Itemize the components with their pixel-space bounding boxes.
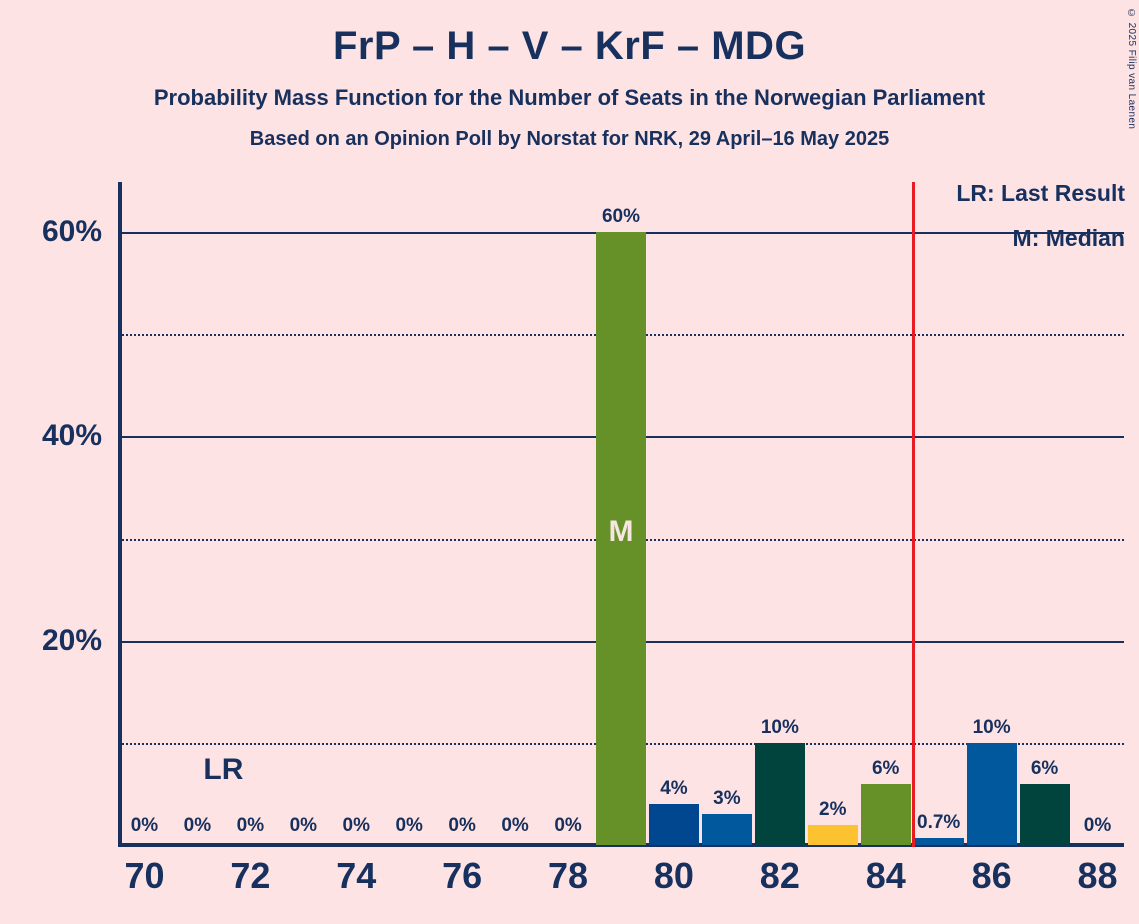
bar-value-label: 0% (343, 815, 370, 837)
bar-seat-81[interactable]: 3% (702, 180, 752, 845)
bar-seat-74[interactable]: 0% (331, 180, 381, 845)
bar-value-label: 10% (973, 717, 1011, 739)
bar-seat-71[interactable]: 0% (172, 180, 222, 845)
y-tick-label-40%: 40% (18, 419, 102, 453)
bar-value-label: 0.7% (917, 812, 960, 834)
bar-seat-73[interactable]: 0% (278, 180, 328, 845)
bar-seat-82[interactable]: 10% (755, 180, 805, 845)
bar-value-label: 60% (602, 206, 640, 228)
bar-value-label: 6% (1031, 758, 1058, 780)
chart-source-note: Based on an Opinion Poll by Norstat for … (0, 128, 1139, 151)
bar-fill (808, 825, 858, 845)
bar-value-label: 0% (448, 815, 475, 837)
bar-value-label: 0% (1084, 815, 1111, 837)
bar-seat-85[interactable]: 0.7% (914, 180, 964, 845)
page-title: FrP – H – V – KrF – MDG (0, 24, 1139, 69)
copyright-notice: © 2025 Filip van Laenen (1126, 8, 1137, 129)
last-result-label: LR (203, 753, 243, 787)
x-axis-labels: 70727476788082848688 (118, 855, 1124, 915)
bar-seat-86[interactable]: 10% (967, 180, 1017, 845)
bar-value-label: 0% (554, 815, 581, 837)
chart-header: FrP – H – V – KrF – MDG Probability Mass… (0, 0, 1139, 151)
bar-seat-76[interactable]: 0% (437, 180, 487, 845)
y-tick-label-20%: 20% (18, 624, 102, 658)
x-tick-label-84: 84 (866, 855, 906, 897)
last-result-line (912, 182, 915, 847)
bar-value-label: 0% (131, 815, 158, 837)
bar-value-label: 0% (501, 815, 528, 837)
x-tick-label-70: 70 (124, 855, 164, 897)
x-tick-label-76: 76 (442, 855, 482, 897)
x-tick-label-82: 82 (760, 855, 800, 897)
bar-value-label: 2% (819, 799, 846, 821)
plot-area: 0%0%0%0%0%0%0%0%0%60%M4%3%10%2%6%0.7%10%… (118, 182, 1124, 847)
bar-value-label: 3% (713, 788, 740, 810)
y-tick-label-60%: 60% (18, 215, 102, 249)
bar-fill (861, 784, 911, 845)
median-marker: M (608, 515, 633, 549)
bar-seat-78[interactable]: 0% (543, 180, 593, 845)
bar-seat-70[interactable]: 0% (120, 180, 170, 845)
x-tick-label-86: 86 (972, 855, 1012, 897)
bar-value-label: 0% (237, 815, 264, 837)
bar-seat-87[interactable]: 6% (1020, 180, 1070, 845)
bar-fill (967, 743, 1017, 845)
x-tick-label-80: 80 (654, 855, 694, 897)
bar-seat-79[interactable]: 60%M (596, 180, 646, 845)
bar-value-label: 0% (290, 815, 317, 837)
bar-seat-84[interactable]: 6% (861, 180, 911, 845)
bar-seat-77[interactable]: 0% (490, 180, 540, 845)
bar-seat-88[interactable]: 0% (1073, 180, 1123, 845)
bar-fill (755, 743, 805, 845)
x-tick-label-78: 78 (548, 855, 588, 897)
x-tick-label-72: 72 (230, 855, 270, 897)
bar-seat-83[interactable]: 2% (808, 180, 858, 845)
x-tick-label-74: 74 (336, 855, 376, 897)
chart-subtitle: Probability Mass Function for the Number… (0, 85, 1139, 111)
bar-seat-80[interactable]: 4% (649, 180, 699, 845)
bar-seat-72[interactable]: 0% (225, 180, 275, 845)
bar-fill (1020, 784, 1070, 845)
bar-seat-75[interactable]: 0% (384, 180, 434, 845)
bar-value-label: 10% (761, 717, 799, 739)
bar-fill (914, 838, 964, 845)
x-tick-label-88: 88 (1077, 855, 1117, 897)
bar-fill (649, 804, 699, 845)
bar-value-label: 0% (184, 815, 211, 837)
bar-fill (702, 814, 752, 845)
bar-value-label: 0% (395, 815, 422, 837)
bar-value-label: 4% (660, 778, 687, 800)
bar-value-label: 6% (872, 758, 899, 780)
